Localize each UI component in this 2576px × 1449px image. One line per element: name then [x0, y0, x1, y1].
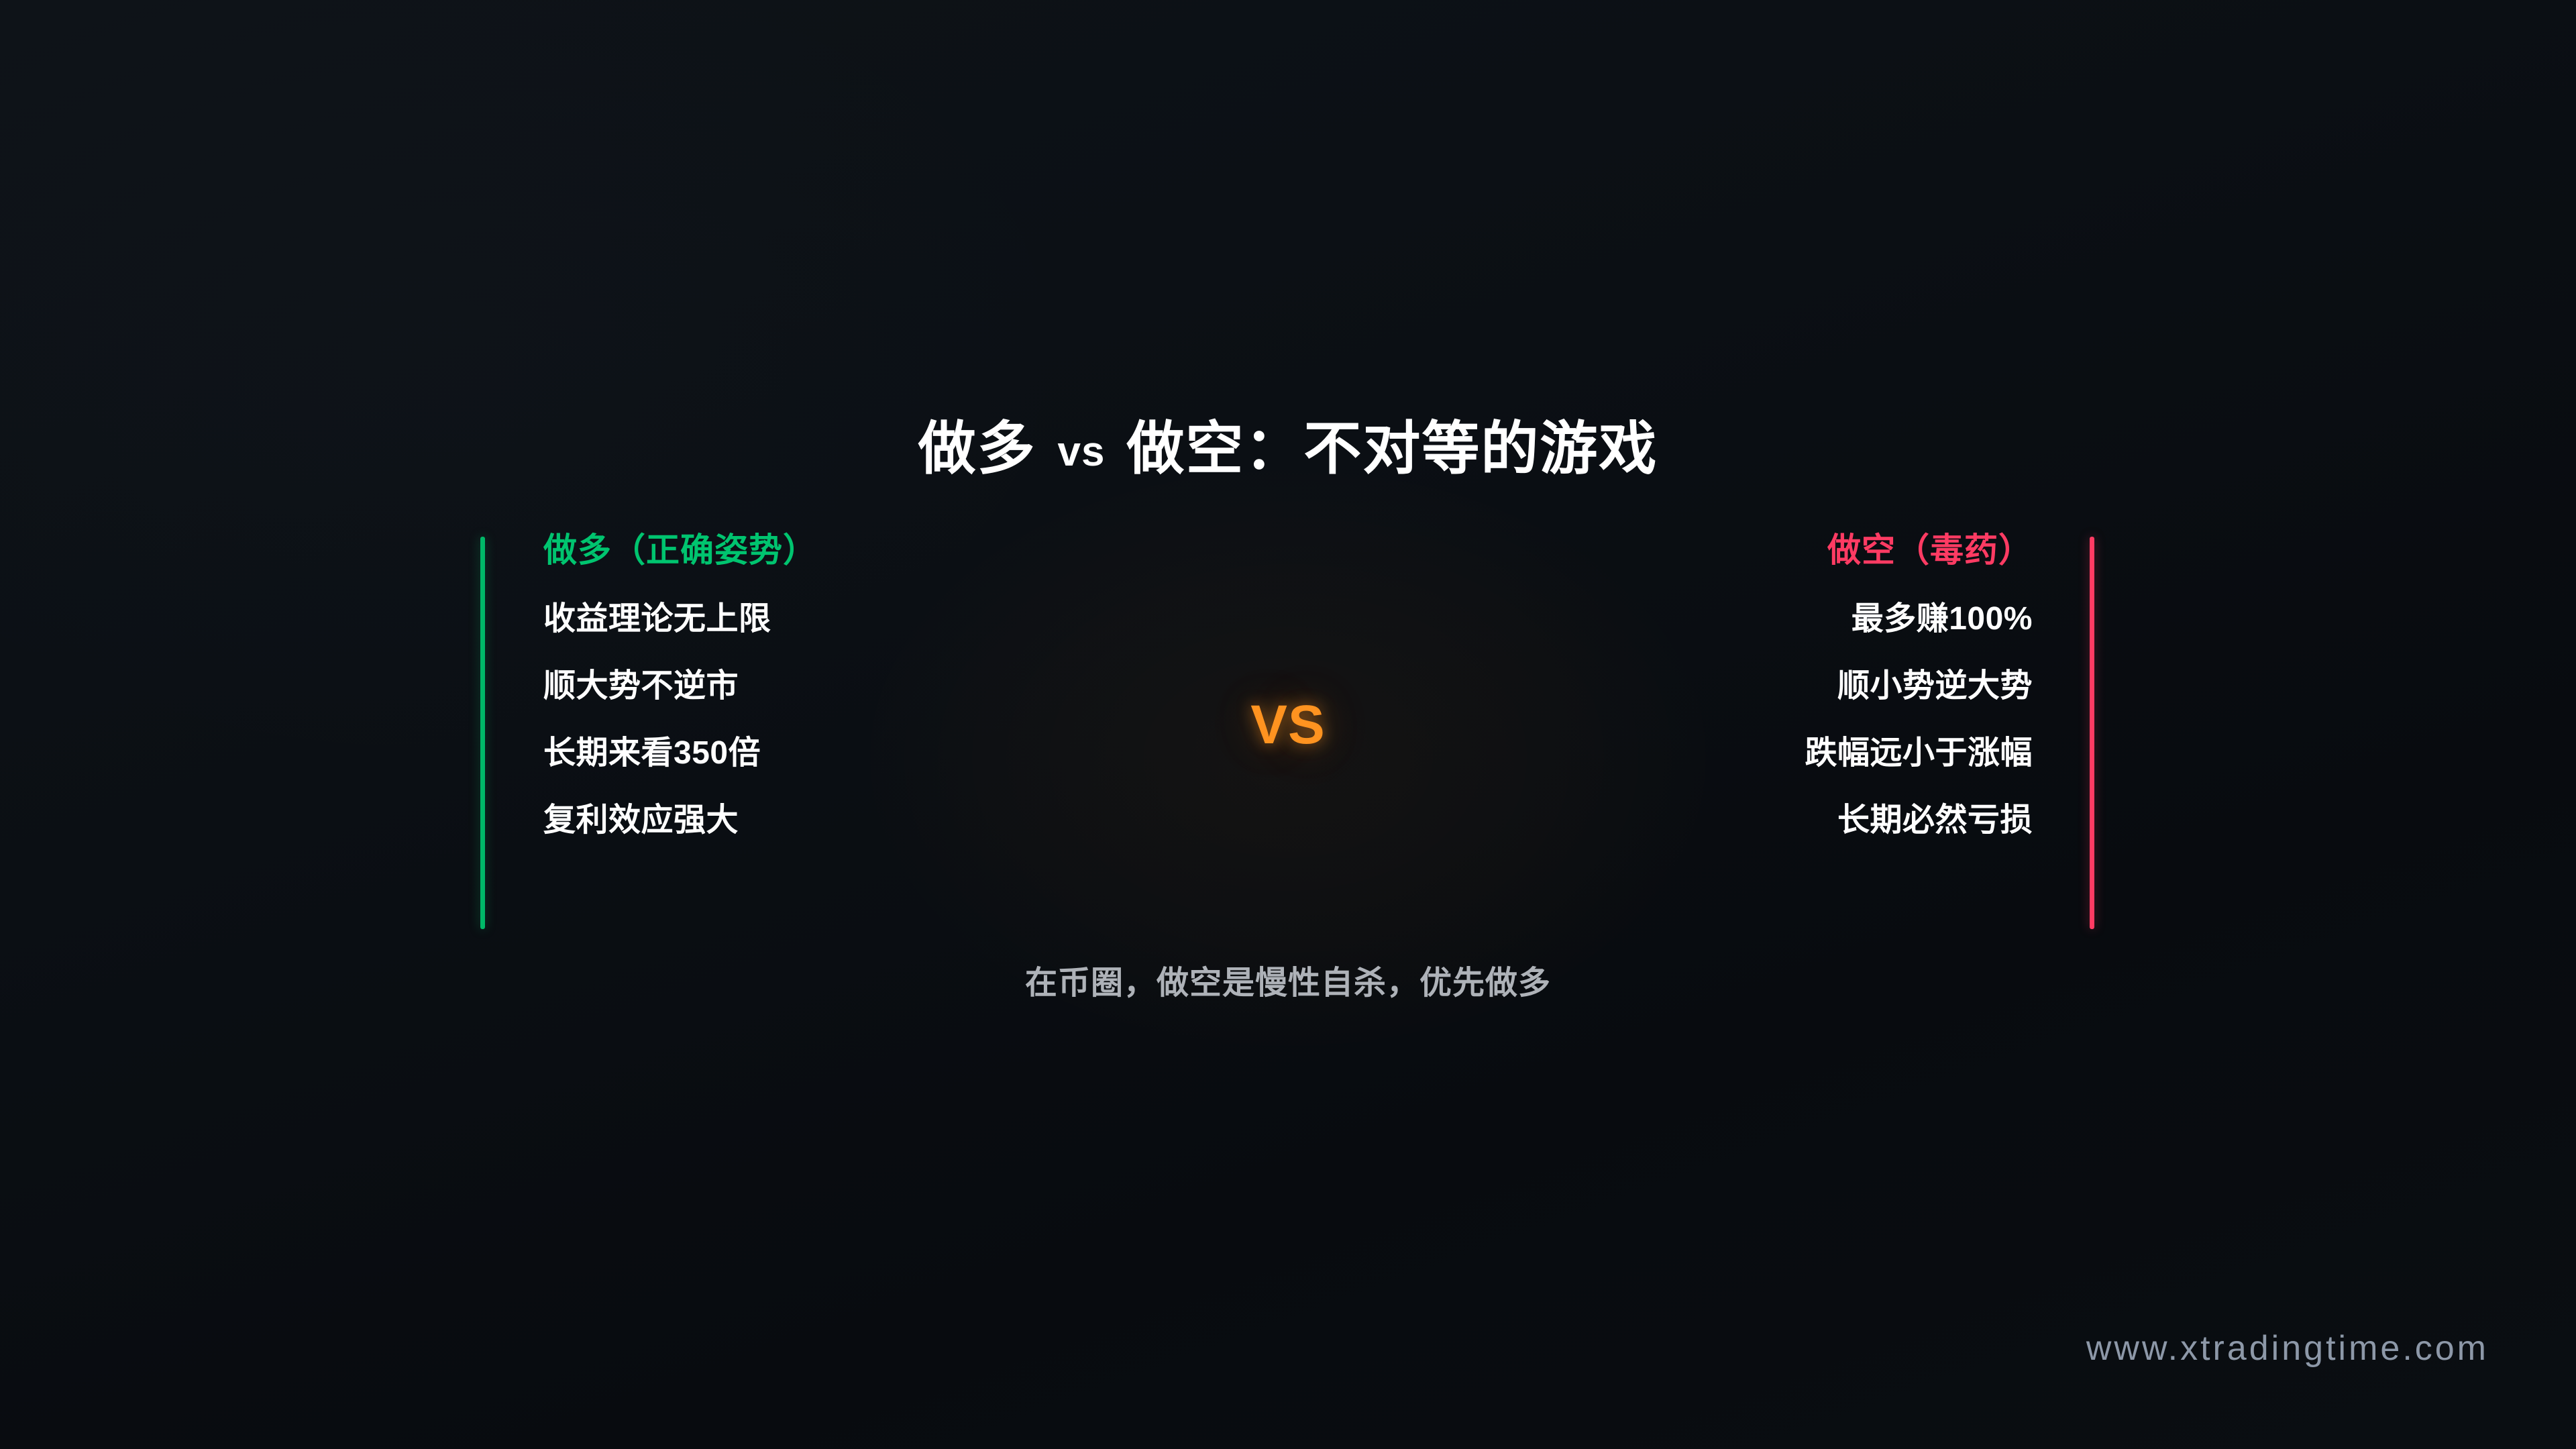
page-title-right: 做空：不对等的游戏 — [1126, 417, 1658, 481]
list-item: 最多赚100% — [1429, 603, 2033, 637]
long-column-heading: 做多（正确姿势） — [543, 533, 1147, 574]
watermark: www.xtradingtime.com — [2086, 1331, 2489, 1366]
slide-canvas: 做多 vs 做空：不对等的游戏 做多（正确姿势） 收益理论无上限 顺大势不逆市 … — [0, 0, 2576, 1449]
page-title: 做多 vs 做空：不对等的游戏 — [0, 416, 2576, 482]
long-column: 做多（正确姿势） 收益理论无上限 顺大势不逆市 长期来看350倍 复利效应强大 — [543, 533, 1147, 838]
footer-note: 在币圈，做空是慢性自杀，优先做多 — [0, 967, 2576, 1000]
list-item: 长期必然亏损 — [1429, 804, 2033, 838]
page-title-vs: vs — [1054, 429, 1110, 475]
page-title-left: 做多 — [918, 417, 1036, 481]
short-column: 做空（毒药） 最多赚100% 顺小势逆大势 跌幅远小于涨幅 长期必然亏损 — [1429, 533, 2033, 838]
list-item: 收益理论无上限 — [543, 603, 1147, 637]
vs-badge: VS — [0, 698, 2576, 753]
list-item: 复利效应强大 — [543, 804, 1147, 838]
short-column-heading: 做空（毒药） — [1429, 533, 2033, 574]
